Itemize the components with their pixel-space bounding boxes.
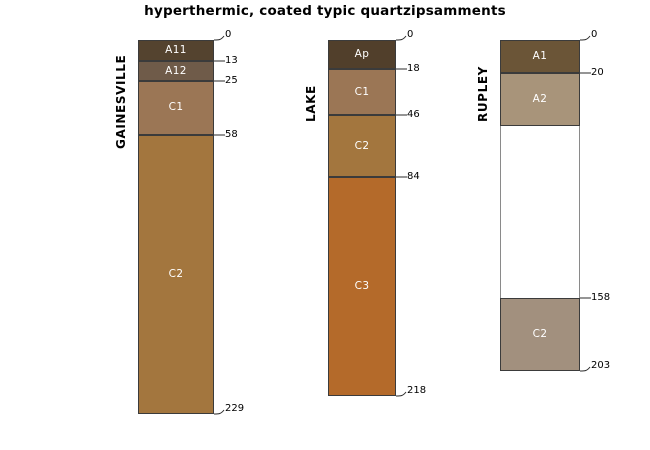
- horizon-gainesville-c2: C2: [138, 135, 214, 414]
- horizon-label: A12: [165, 66, 187, 77]
- horizon-label: C2: [533, 329, 548, 340]
- station-label-rupley: RUPLEY: [476, 66, 490, 122]
- depth-label-0: 0: [407, 30, 413, 40]
- station-label-gainesville: GAINESVILLE: [114, 55, 128, 149]
- depth-label-203: 203: [591, 361, 610, 371]
- horizon-lake-c3: C3: [328, 177, 396, 396]
- horizon-rupley-a2: A2: [500, 73, 580, 127]
- depth-label-0: 0: [591, 30, 597, 40]
- horizon-label: C2: [169, 269, 184, 280]
- horizon-label: A2: [533, 94, 548, 105]
- depth-label-25: 25: [225, 76, 238, 86]
- horizon-lake-ap: Ap: [328, 40, 396, 69]
- horizon-rupley-a1: A1: [500, 40, 580, 73]
- depth-label-229: 229: [225, 404, 244, 414]
- horizon-gainesville-a11: A11: [138, 40, 214, 61]
- horizon-rupley-gap: [500, 126, 580, 297]
- depth-label-218: 218: [407, 386, 426, 396]
- depth-label-18: 18: [407, 64, 420, 74]
- horizon-label: A11: [165, 45, 187, 56]
- horizon-label: C2: [355, 141, 370, 152]
- page-title: hyperthermic, coated typic quartzipsamme…: [0, 3, 650, 19]
- horizon-label: C1: [355, 87, 370, 98]
- station-label-lake: LAKE: [304, 85, 318, 122]
- depth-label-20: 20: [591, 68, 604, 78]
- soil-profile-figure: hyperthermic, coated typic quartzipsamme…: [0, 0, 650, 450]
- horizon-label: C3: [355, 281, 370, 292]
- horizon-lake-c1: C1: [328, 69, 396, 115]
- depth-label-158: 158: [591, 293, 610, 303]
- depth-label-0: 0: [225, 30, 231, 40]
- depth-label-13: 13: [225, 56, 238, 66]
- horizon-label: A1: [533, 51, 548, 62]
- depth-label-46: 46: [407, 110, 420, 120]
- horizon-gainesville-c1: C1: [138, 81, 214, 135]
- horizon-gainesville-a12: A12: [138, 61, 214, 81]
- horizon-rupley-c2: C2: [500, 298, 580, 371]
- horizon-label: Ap: [355, 49, 370, 60]
- depth-label-84: 84: [407, 172, 420, 182]
- horizon-lake-c2: C2: [328, 115, 396, 177]
- depth-label-58: 58: [225, 130, 238, 140]
- horizon-label: C1: [169, 102, 184, 113]
